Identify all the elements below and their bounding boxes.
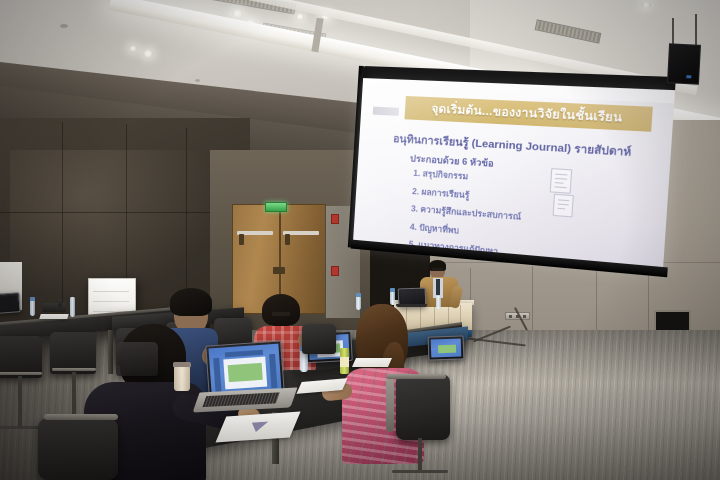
projection-screen: จุดเริ่มต้น...ของงานวิจัยในชั้นเรียน อนุ… [352, 66, 676, 284]
exit-sign [265, 202, 287, 212]
laptop-left-closed[interactable] [0, 292, 21, 314]
candle-object [70, 297, 75, 317]
laptop-right-green-panel [438, 345, 456, 354]
wall-seam-h [0, 212, 230, 213]
papers-right-table[interactable] [352, 358, 392, 367]
presenter-glasses [432, 268, 443, 271]
downlight-9 [641, 2, 651, 8]
laptop-foreground-display [208, 344, 281, 395]
microphone-stand-left [58, 299, 62, 307]
microphone-left [42, 303, 66, 312]
chair-pink-person-arm [386, 374, 446, 379]
coffee-cup[interactable] [174, 366, 190, 391]
water-bottle-left-cap [30, 297, 35, 301]
paper-chart-mark [248, 421, 269, 432]
tea-bottle [340, 348, 349, 374]
laptop-keyboard-keys[interactable] [202, 392, 279, 407]
fire-alarm-pull-icon [331, 266, 339, 276]
flipchart-line-2 [93, 301, 129, 302]
laptop-right-display [431, 338, 462, 357]
chair-pink-person-base [392, 470, 448, 473]
water-bottle-back [356, 296, 361, 310]
chair-plaid-person[interactable] [302, 324, 336, 354]
papers-on-left-table [39, 314, 69, 319]
empty-table-leg-1 [108, 330, 113, 374]
plaid-person-glasses [272, 312, 290, 316]
conference-room-photo: จุดเริ่มต้น...ของงานวิจัยในชั้นเรียน อนุ… [0, 0, 720, 480]
laptop-left-display [0, 295, 17, 310]
tea-bottle-label [340, 357, 349, 367]
chair-black-jacket-person[interactable] [38, 418, 118, 480]
ceiling-speaker [667, 43, 701, 85]
laptop-display-green-panel [228, 363, 263, 382]
flipchart-line-1 [93, 291, 129, 292]
fire-alarm-icon [331, 214, 339, 224]
document-icon-2 [553, 194, 574, 218]
chair-left-2-arm [52, 368, 96, 371]
wall-panel-line-2 [532, 266, 533, 336]
laptop-display-sidebar-left [213, 358, 221, 392]
door-lock-plate[interactable] [273, 267, 285, 274]
speaker-rod-2 [695, 14, 697, 46]
chair-black-jacket-frame [44, 414, 118, 420]
chair-pink-person[interactable] [396, 374, 450, 440]
coffee-cup-lid [173, 362, 191, 367]
water-bottle-back-cap [356, 293, 361, 297]
door-hinge-right [285, 234, 290, 245]
slide-title-text: จุดเริ่มต้น...ของงานวิจัยในชั้นเรียน [431, 100, 623, 128]
plaid-person-hair [262, 294, 300, 326]
downlight-3 [143, 50, 153, 57]
laptop-right-edge[interactable] [428, 335, 465, 360]
water-bottle-left [30, 300, 35, 316]
door-hinge-left [239, 234, 244, 245]
water-bottle-presenter-area [436, 296, 441, 309]
speaker-led-icon [686, 75, 691, 78]
navy-person-hair [170, 288, 212, 316]
presenter-water-bottle [390, 291, 395, 305]
document-icon-1 [550, 168, 573, 194]
laptop-display-sidebar-right [269, 354, 277, 388]
chair-pink-person-frame [386, 378, 394, 432]
presenter-laptop-display [401, 291, 423, 305]
slide-title-band: จุดเริ่มต้น...ของงานวิจัยในชั้นเรียน [404, 96, 652, 132]
chair-navy-person[interactable] [116, 342, 158, 376]
presenter-bottle-cap [390, 288, 395, 292]
presenter-tie [436, 279, 440, 295]
presenter-laptop-base [396, 304, 427, 307]
downlight-1 [232, 10, 243, 17]
chair-left-1-post [18, 376, 22, 428]
slide-organization-logo [373, 107, 399, 116]
chair-pink-person-post [418, 438, 422, 472]
sprinkler-2 [195, 79, 200, 82]
screen-surface: จุดเริ่มต้น...ของงานวิจัยในชั้นเรียน อนุ… [353, 78, 675, 271]
downlight-5 [129, 46, 137, 51]
chair-left-1-arm [0, 372, 42, 375]
downlight-4 [296, 14, 304, 19]
sprinkler-1 [60, 24, 68, 28]
chair-left-1-base [0, 426, 42, 429]
